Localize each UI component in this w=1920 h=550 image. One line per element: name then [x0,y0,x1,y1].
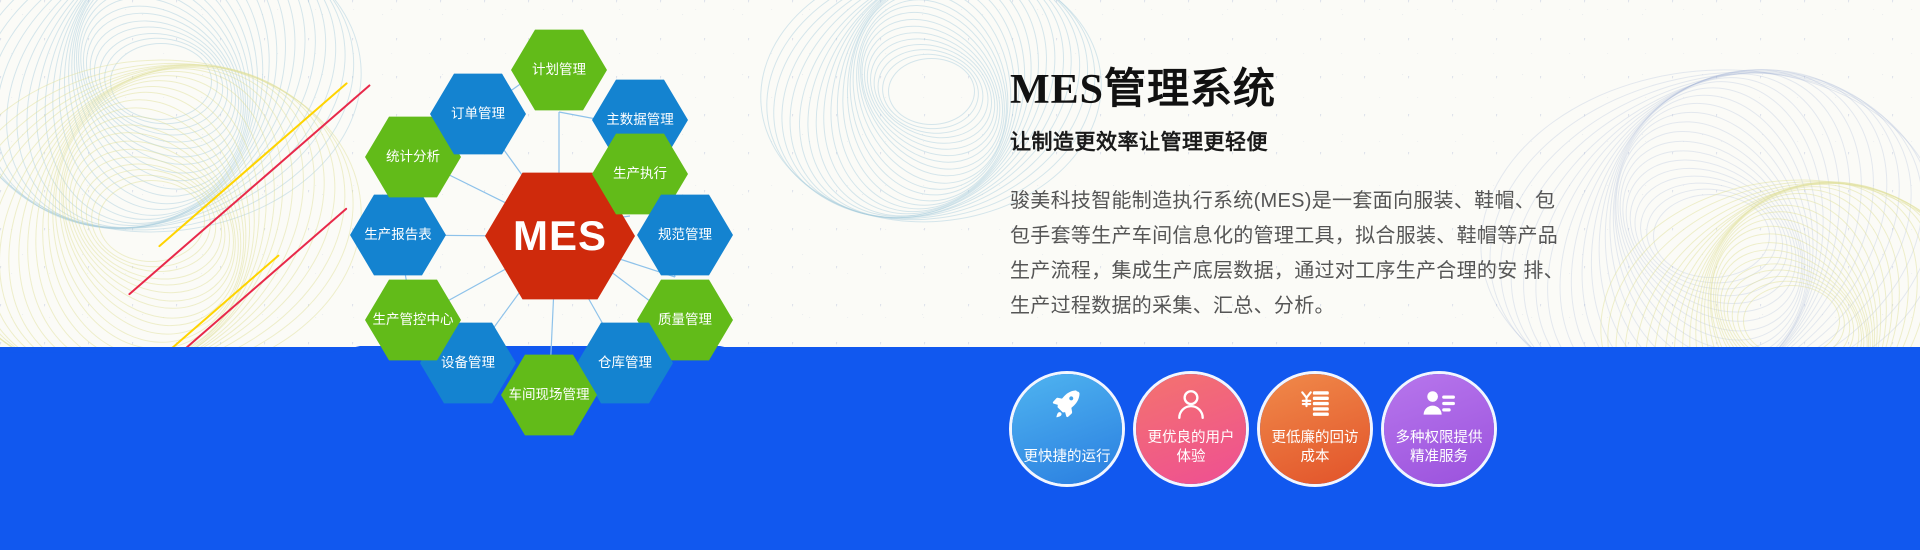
hex-label: 质量管理 [652,312,718,328]
hex-label: 统计分析 [380,149,446,165]
badge-label-line2: 体验 [1169,448,1214,468]
feature-badges: 更快捷的运行更优良的用户体验更低廉的回访成本多种权限提供精准服务 [1012,374,1494,484]
badge-label-line2: 成本 [1293,448,1338,468]
hex-label: 仓库管理 [592,355,658,371]
banner-copy: MES管理系统 让制造更效率让管理更轻便 骏美科技智能制造执行系统(MES)是一… [1010,55,1610,324]
coins-icon [1298,387,1332,421]
user-icon [1174,387,1208,421]
swirl-top-left [0,0,360,230]
hex-core-label: MES [507,211,613,261]
hex-label: 生产报告表 [358,227,438,243]
page-description: 骏美科技智能制造执行系统(MES)是一套面向服装、鞋帽、包包手套等生产车间信息化… [1010,184,1570,324]
badge-label-line1: 更低廉的回访 [1264,429,1367,449]
hex-label: 生产管控中心 [367,312,460,328]
badge-label-line1: 更快捷的运行 [1016,448,1119,468]
badge-label-line2: 精准服务 [1402,448,1476,468]
badge-label-line1: 更优良的用户 [1140,429,1243,449]
hex-label: 规范管理 [652,227,718,243]
page-title: MES管理系统 [1010,55,1610,116]
hex-label: 设备管理 [435,355,501,371]
hex-label: 主数据管理 [600,112,680,128]
mes-banner: MES 计划管理主数据管理生产执行规范管理质量管理仓库管理车间现场管理设备管理生… [0,0,1920,550]
permissions-icon [1422,387,1456,421]
badge-lower-revisit-cost[interactable]: 更低廉的回访成本 [1260,374,1370,484]
badge-label-line1: 多种权限提供 [1388,429,1491,449]
swirl-left [0,60,360,380]
badge-faster-operation[interactable]: 更快捷的运行 [1012,374,1122,484]
bottom-blue-band [0,347,1920,550]
hex-label: 车间现场管理 [503,387,596,403]
hex-label: 计划管理 [526,62,592,78]
rocket-icon [1050,387,1084,421]
page-subtitle: 让制造更效率让管理更轻便 [1010,126,1610,156]
badge-multiple-permissions[interactable]: 多种权限提供精准服务 [1384,374,1494,484]
mes-hexagon-diagram: MES 计划管理主数据管理生产执行规范管理质量管理仓库管理车间现场管理设备管理生… [330,10,780,430]
hex-label: 生产执行 [607,166,673,182]
hex-label: 订单管理 [445,106,511,122]
accent-line-yellow [158,82,348,248]
badge-better-user-experience[interactable]: 更优良的用户体验 [1136,374,1246,484]
